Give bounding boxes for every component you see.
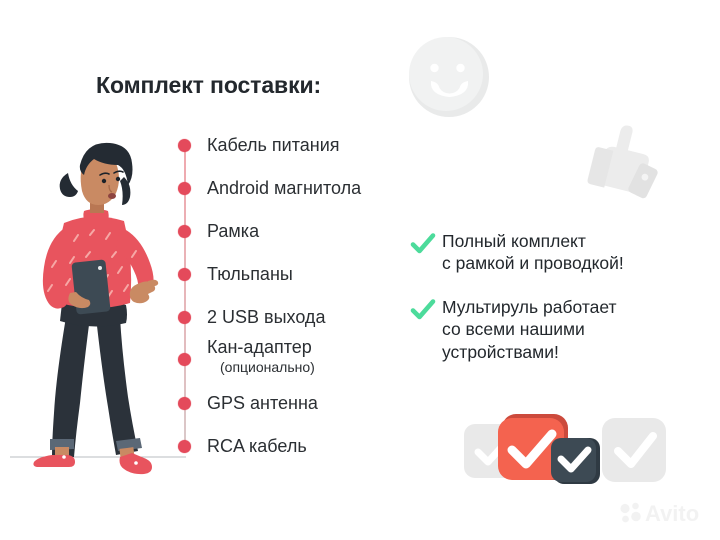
list-item-label: Тюльпаны	[207, 264, 293, 285]
bullet-dot-icon	[178, 311, 191, 324]
feature-item-full-kit: Полный комплект с рамкой и проводкой!	[410, 230, 695, 275]
list-item-sublabel: (опционально)	[220, 359, 315, 375]
feature-item-multiwheel: Мультируль работает со всеми нашими устр…	[410, 296, 695, 363]
woman-with-tablet-illustration	[8, 105, 188, 505]
list-item-label: Рамка	[207, 221, 259, 242]
bullet-dot-icon	[178, 353, 191, 366]
list-item-label: 2 USB выхода	[207, 307, 325, 328]
list-item-label: Кабель питания	[207, 135, 340, 156]
list-item-label: Кан-адаптер	[207, 337, 312, 358]
smiley-face-icon	[408, 36, 490, 118]
feature-label: Полный комплект с рамкой и проводкой!	[442, 230, 624, 275]
bullet-dot-icon	[178, 139, 191, 152]
checkbox-dark	[551, 438, 600, 484]
bullet-dot-icon	[178, 225, 191, 238]
list-item-label: Android магнитола	[207, 178, 361, 199]
package-contents-list: Кабель питания Android магнитола Рамка Т…	[176, 130, 426, 460]
green-check-icon	[410, 297, 436, 323]
avito-watermark: Avito	[618, 498, 714, 526]
bullet-dot-icon	[178, 268, 191, 281]
list-item-label: GPS антенна	[207, 393, 318, 414]
avito-wordmark: Avito	[645, 501, 699, 526]
checkbox-grey-right	[602, 418, 666, 482]
bullet-dot-icon	[178, 182, 191, 195]
checkbox-cluster-graphic	[462, 404, 686, 490]
bullet-dot-icon	[178, 397, 191, 410]
feature-label: Мультируль работает со всеми нашими устр…	[442, 296, 617, 363]
green-check-icon	[410, 231, 436, 257]
page-title: Комплект поставки:	[96, 72, 321, 99]
promo-card: Комплект поставки: Кабель питания Androi…	[0, 0, 720, 540]
thumbs-up-icon	[578, 110, 674, 206]
bullet-dot-icon	[178, 440, 191, 453]
list-item-label: RCA кабель	[207, 436, 307, 457]
